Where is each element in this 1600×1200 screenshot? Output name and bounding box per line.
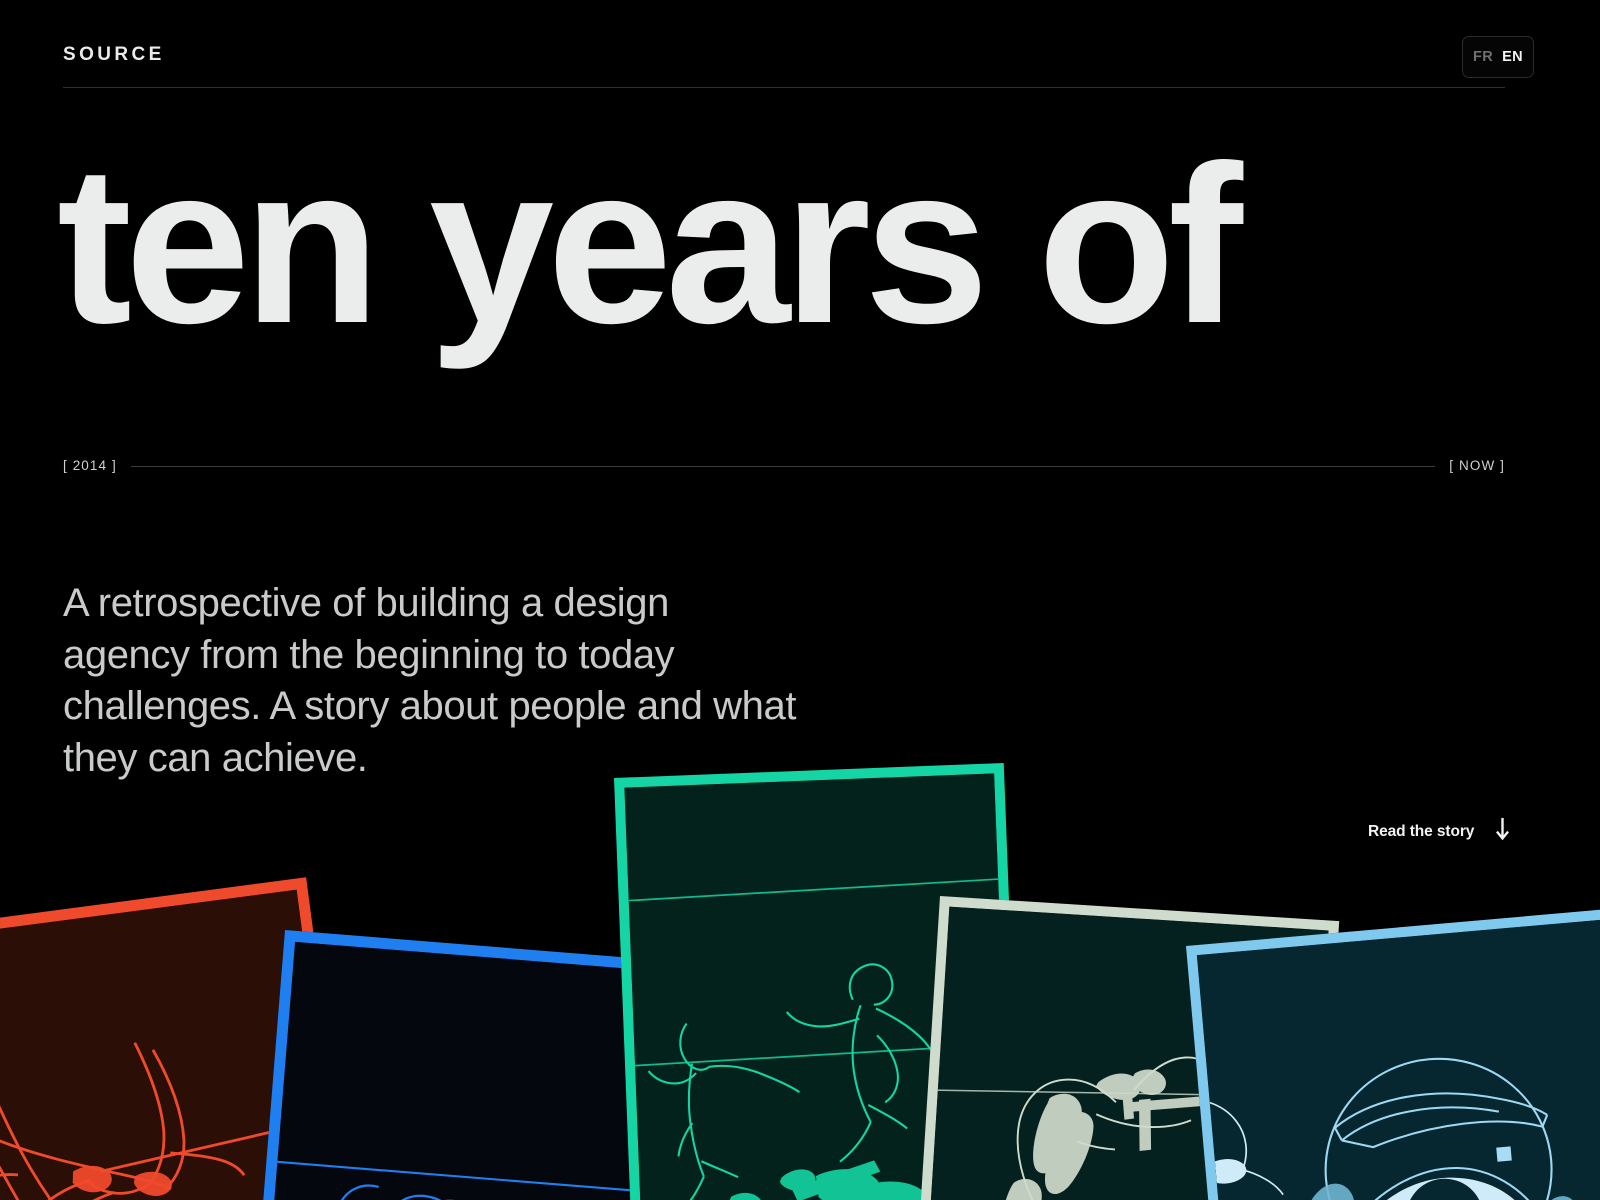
timeline-start-label: [ 2014 ] — [63, 459, 117, 473]
timeline-line — [131, 466, 1435, 467]
timeline-end-label: [ NOW ] — [1449, 459, 1505, 473]
card-deck — [0, 740, 1600, 1200]
lang-option-fr[interactable]: FR — [1473, 50, 1493, 65]
lang-option-en[interactable]: EN — [1502, 50, 1523, 65]
landing-page: SOURCE FR EN ten years of [ 2014 ] [ NOW… — [0, 0, 1600, 1200]
header-divider — [63, 87, 1505, 88]
timeline: [ 2014 ] [ NOW ] — [63, 455, 1505, 477]
site-header: SOURCE FR EN — [0, 0, 1600, 88]
brand-logo[interactable]: SOURCE — [63, 45, 165, 64]
helmet-eye-line-art — [1197, 916, 1600, 1200]
language-toggle[interactable]: FR EN — [1462, 36, 1534, 78]
card-skyblue[interactable] — [1186, 905, 1600, 1200]
page-title: ten years of — [57, 134, 1517, 355]
